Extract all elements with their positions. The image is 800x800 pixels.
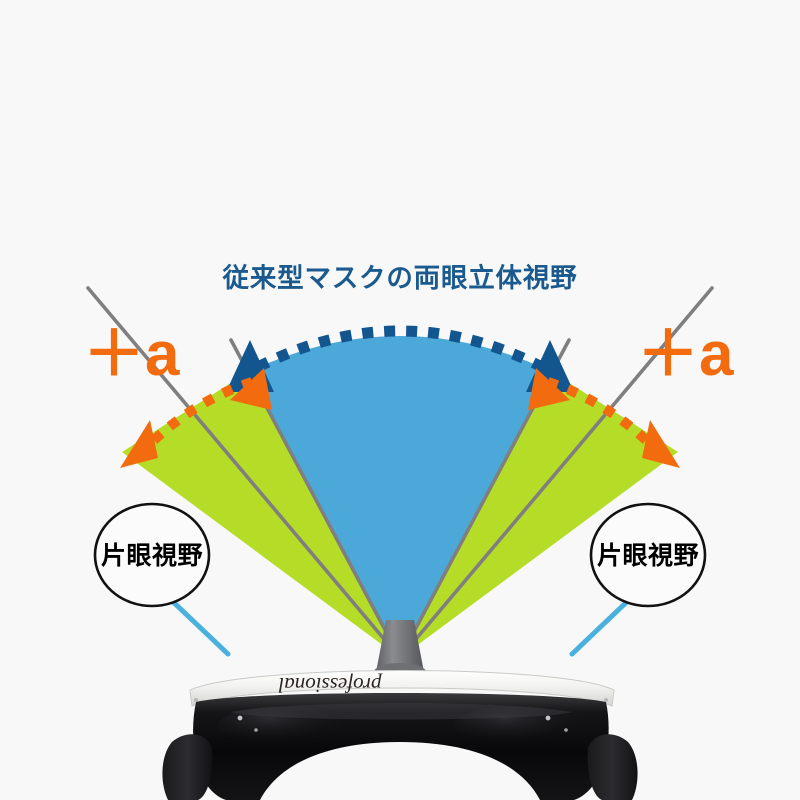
mask-specular-2 — [254, 728, 258, 732]
callout-left: 片眼視野 — [95, 504, 209, 606]
product-feature-page: 圧倒的ワイドビューを実現！ フレームの薄さとフランジ容積によりレンズと目がとても… — [0, 0, 800, 800]
callout-right-label: 片眼視野 — [597, 541, 699, 570]
diagram-svg: ＋a ＋a 従来型マスクの両眼立体視野 片眼視野 片眼視野 — [0, 0, 800, 800]
field-of-view-diagram: ＋a ＋a 従来型マスクの両眼立体視野 片眼視野 片眼視野 — [0, 0, 800, 800]
plus-alpha-label-right: ＋a — [637, 320, 734, 389]
mask-frame-rivet-right — [604, 698, 608, 702]
mask-specular-1 — [238, 716, 243, 721]
mask-specular-4 — [564, 728, 568, 732]
callout-left-label: 片眼視野 — [101, 541, 203, 570]
mask-specular-3 — [546, 716, 551, 721]
binocular-field-label: 従来型マスクの両眼立体視野 — [222, 263, 578, 293]
plus-alpha-label-left: ＋a — [83, 320, 180, 389]
callout-right: 片眼視野 — [591, 504, 705, 606]
mask-frame-rivet-left — [194, 698, 198, 702]
